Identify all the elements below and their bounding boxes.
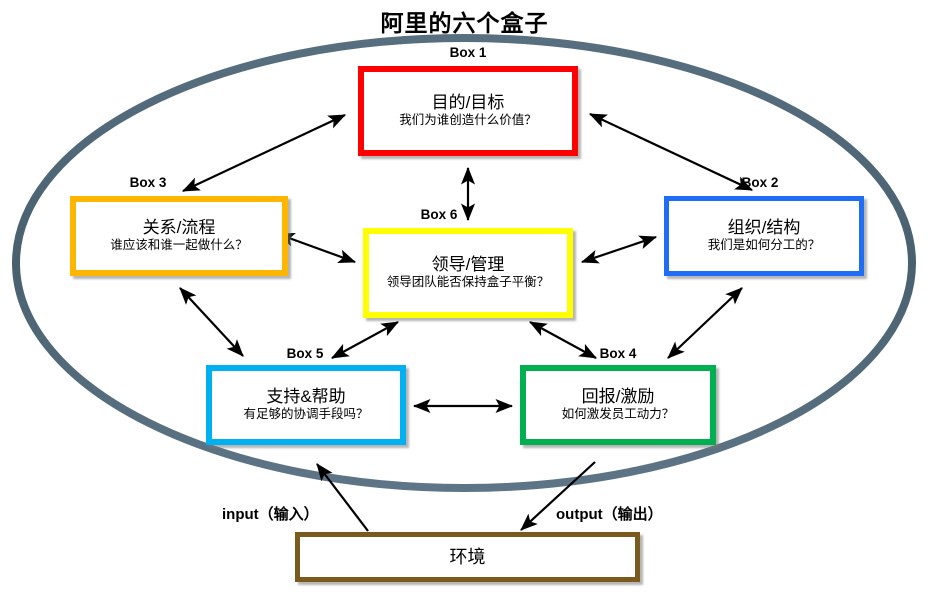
box-label-box2: Box 2 <box>690 175 830 190</box>
node-box3-relationships[interactable]: 关系/流程 谁应该和谁一起做什么？ <box>70 196 288 276</box>
connector-box3-box6 <box>278 234 355 262</box>
node-environment[interactable]: 环境 <box>295 532 640 582</box>
output-label: output（输出） <box>556 503 663 524</box>
box-label-box3: Box 3 <box>78 175 218 190</box>
node-box4-rewards[interactable]: 回报/激励 如何激发员工动力？ <box>520 365 716 445</box>
connector-input-environment-box5 <box>317 464 368 531</box>
node-subtitle-box3: 谁应该和谁一起做什么？ <box>102 238 256 254</box>
node-box5-helpful-mechanisms[interactable]: 支持&帮助 有足够的协调手段吗？ <box>206 365 406 445</box>
input-label: input（输入） <box>222 503 319 524</box>
node-subtitle-box6: 领导团队能否保持盒子平衡？ <box>379 275 558 291</box>
node-title-box6: 领导/管理 <box>432 255 505 275</box>
node-box6-leadership[interactable]: 领导/管理 领导团队能否保持盒子平衡？ <box>363 228 573 318</box>
node-title-box3: 关系/流程 <box>143 218 216 238</box>
node-box1-purpose[interactable]: 目的/目标 我们为谁创造什么价值？ <box>358 66 578 156</box>
node-title-box1: 目的/目标 <box>432 93 505 113</box>
node-box2-structure[interactable]: 组织/结构 我们是如何分工的？ <box>664 196 864 276</box>
node-subtitle-box1: 我们为谁创造什么价值？ <box>391 113 545 129</box>
connector-box2-box4 <box>668 288 742 358</box>
node-title-box5: 支持&帮助 <box>266 387 345 407</box>
box-label-box6: Box 6 <box>374 207 504 222</box>
node-subtitle-box4: 如何激发员工动力？ <box>554 407 683 423</box>
connector-box3-box5 <box>180 288 243 356</box>
box-label-box1: Box 1 <box>398 45 538 60</box>
box-label-box4: Box 4 <box>558 346 678 361</box>
box-label-box5: Box 5 <box>245 346 365 361</box>
node-title-environment: 环境 <box>450 547 486 568</box>
node-subtitle-box2: 我们是如何分工的？ <box>700 238 829 254</box>
connector-box6-box2 <box>582 237 656 262</box>
diagram-canvas: 阿里的六个盒子 <box>0 0 929 602</box>
node-title-box2: 组织/结构 <box>728 218 801 238</box>
node-subtitle-box5: 有足够的协调手段吗？ <box>235 407 376 423</box>
node-title-box4: 回报/激励 <box>582 387 655 407</box>
